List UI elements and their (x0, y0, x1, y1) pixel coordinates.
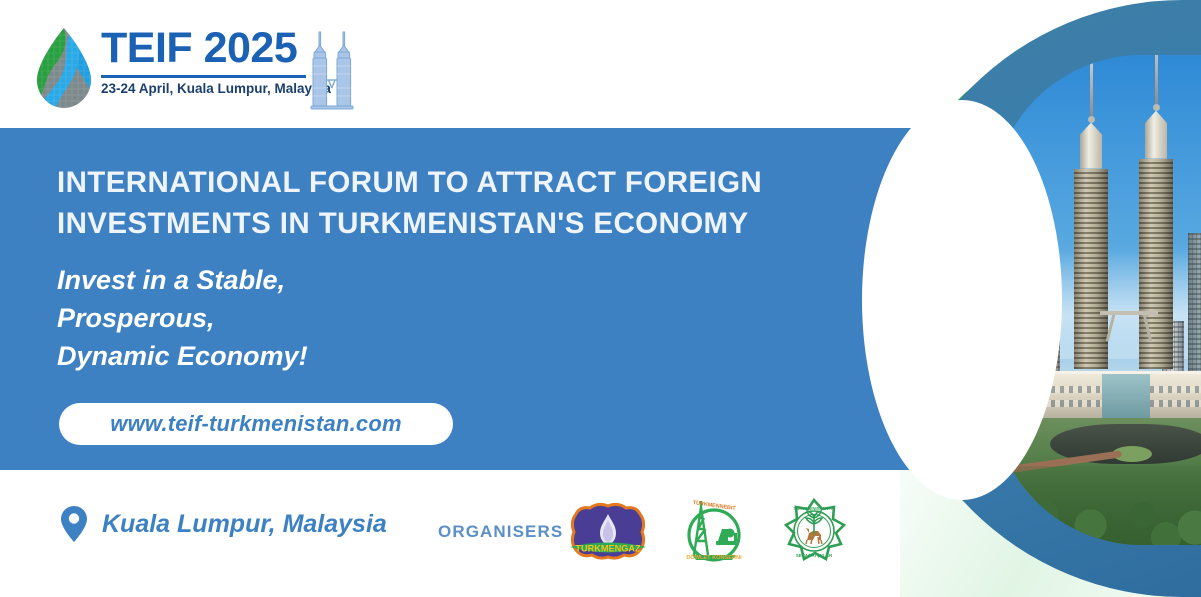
turkmengaz-logo-text: TURKMENGAZ (575, 543, 641, 553)
petronas-towers-icon (310, 30, 366, 112)
background-building (1188, 233, 1201, 383)
turkmennebit-logo[interactable]: DÖWLET KONSERNI TÜRKMENNEBIT (672, 497, 756, 570)
organiser-logos: TURKMENGAZ DÖWLET KONSERN (566, 497, 850, 570)
water-drop-icon (33, 26, 95, 110)
map-pin-icon (60, 505, 88, 543)
teif-2025-banner: TEIF 2025 23-24 April, Kuala Lumpur, Mal… (0, 0, 1201, 597)
headline-line-2: INVESTMENTS IN TURKMENISTAN'S ECONOMY (57, 203, 817, 244)
turkmengaz-logo[interactable]: TURKMENGAZ (566, 500, 650, 567)
teif-logo[interactable]: TEIF 2025 23-24 April, Kuala Lumpur, Mal… (33, 22, 373, 114)
tagline-line-2: Prosperous, (57, 299, 577, 337)
band-curve-mask (862, 100, 1062, 500)
logo-divider (101, 75, 306, 78)
park-trees (992, 466, 1201, 545)
state-emblem-bottom-text: SENAGATÇYLAR (796, 553, 833, 558)
logo-wordmark: TEIF 2025 23-24 April, Kuala Lumpur, Mal… (101, 22, 321, 96)
website-url-label: www.teif-turkmenistan.com (110, 411, 401, 437)
sky-bridge (1100, 311, 1158, 315)
tagline-line-3: Dynamic Economy! (57, 337, 577, 375)
logo-title: TEIF 2025 (101, 22, 321, 74)
organisers-label: ORGANISERS (438, 522, 563, 542)
headline-line-1: INTERNATIONAL FORUM TO ATTRACT FOREIGN (57, 166, 762, 199)
tagline: Invest in a Stable, Prosperous, Dynamic … (57, 261, 577, 375)
state-emblem-top-text: TÜRKMENISTANYŇ (794, 506, 835, 511)
website-url-button[interactable]: www.teif-turkmenistan.com (59, 403, 453, 445)
turkmenistan-state-emblem-logo[interactable]: TÜRKMENISTANYŇ SENAGATÇYLAR (778, 498, 850, 569)
page-title: INTERNATIONAL FORUM TO ATTRACT FOREIGN I… (57, 162, 817, 244)
tagline-line-1: Invest in a Stable, (57, 261, 577, 299)
petronas-tower-left (1074, 58, 1108, 369)
turkmennebit-logo-text: DÖWLET KONSERNI (686, 554, 742, 561)
logo-subtitle: 23-24 April, Kuala Lumpur, Malaysia (101, 81, 321, 96)
location-block: Kuala Lumpur, Malaysia (60, 505, 387, 543)
location-label: Kuala Lumpur, Malaysia (102, 510, 387, 539)
